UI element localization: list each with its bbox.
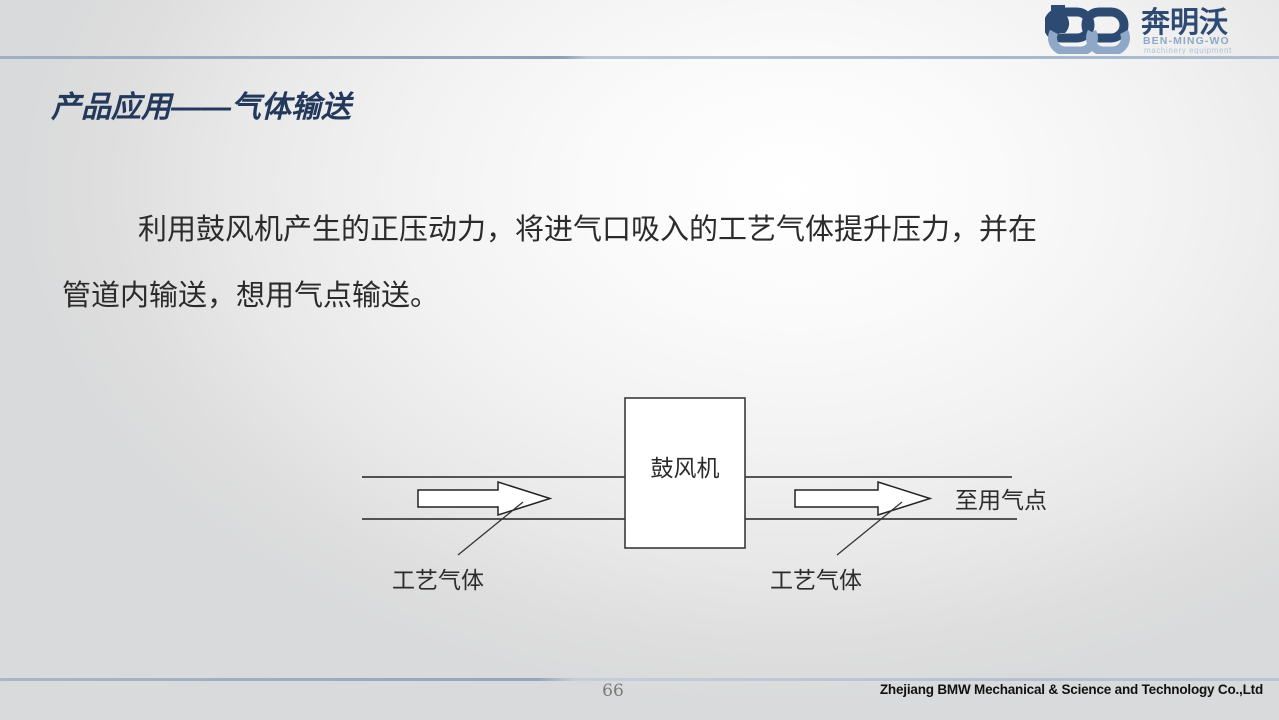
slide-canvas: 奔明沃 BEN-MING-WO machinery equipment 产品应用… [0,0,1279,720]
logo-tagline: machinery equipment [1144,46,1232,54]
page-number: 66 [593,681,633,701]
footer-company-name: Zhejiang BMW Mechanical & Science and Te… [880,682,1263,697]
flow-arrow-inlet [418,482,550,515]
blower-box-label: 鼓风机 [651,456,720,482]
header-divider [0,56,1279,59]
inlet-label: 工艺气体 [392,568,484,594]
gas-transport-diagram: 鼓风机 至用气点 工艺气体 工艺气体 [340,380,1080,610]
outlet-label: 工艺气体 [770,568,862,594]
flow-arrow-outlet [795,482,930,515]
page-title: 产品应用——气体输送 [51,82,351,126]
leader-line-outlet [837,502,902,555]
leader-line-inlet [458,502,523,555]
logo-mark-bo [1048,5,1125,51]
destination-label: 至用气点 [955,488,1047,514]
footer-divider [0,678,1279,681]
body-paragraph: 利用鼓风机产生的正压动力，将进气口吸入的工艺气体提升压力，并在管道内输送，想用气… [62,196,1062,328]
company-logo: 奔明沃 BEN-MING-WO machinery equipment [1045,2,1271,54]
